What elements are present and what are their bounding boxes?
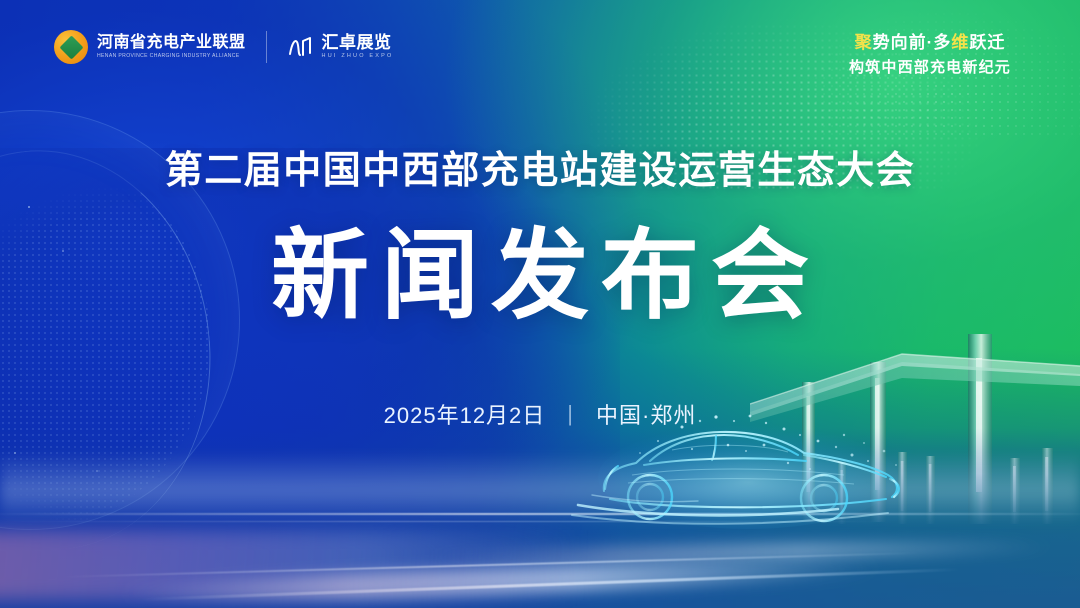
spark-dot <box>28 206 30 208</box>
event-dateline: 2025年12月2日 | 中国·郑州 <box>0 398 1080 430</box>
alliance-name-en: HENAN PROVINCE CHARGING INDUSTRY ALLIANC… <box>97 54 248 59</box>
alliance-text-block: 河南省充电产业联盟 HENAN PROVINCE CHARGING INDUST… <box>97 35 246 59</box>
event-date: 2025年12月2日 <box>384 398 546 430</box>
expo-name-cn: 汇卓展览 <box>322 34 394 51</box>
slogan-highlight-ju: 聚 <box>855 33 873 52</box>
logo-divider <box>266 31 267 63</box>
alliance-diamond-icon <box>54 30 88 64</box>
alliance-name-cn: 河南省充电产业联盟 <box>97 35 246 51</box>
event-location: 中国·郑州 <box>596 398 696 430</box>
expo-name-en: HUI ZHUO EXPO <box>322 54 394 60</box>
page-title: 新闻发布会 <box>0 218 1080 334</box>
alliance-logo[interactable]: 河南省充电产业联盟 HENAN PROVINCE CHARGING INDUST… <box>54 30 246 64</box>
alliance-diamond-inner-icon <box>59 35 83 59</box>
slogan-mid-1: 势向前·多 <box>873 33 952 52</box>
horizon-haze <box>0 452 1080 522</box>
poster-header: 河南省充电产业联盟 HENAN PROVINCE CHARGING INDUST… <box>0 0 1080 96</box>
hui-zhuo-monogram-icon <box>287 34 315 60</box>
slogan-mid-2: 跃迁 <box>969 33 1005 52</box>
logo-group: 河南省充电产业联盟 HENAN PROVINCE CHARGING INDUST… <box>54 30 394 64</box>
header-slogan: 聚势向前·多维跃迁 构筑中西部充电新纪元 <box>830 32 1030 80</box>
light-streak <box>0 513 1080 515</box>
slogan-line-2: 构筑中西部充电新纪元 <box>830 57 1030 80</box>
poster-canvas: 河南省充电产业联盟 HENAN PROVINCE CHARGING INDUST… <box>0 0 1080 608</box>
slogan-highlight-wei: 维 <box>951 33 969 52</box>
expo-text-block: 汇卓展览 HUI ZHUO EXPO <box>322 34 394 60</box>
dateline-separator: | <box>567 401 574 427</box>
slogan-line-1: 聚势向前·多维跃迁 <box>830 32 1030 53</box>
expo-logo[interactable]: 汇卓展览 HUI ZHUO EXPO <box>287 34 394 60</box>
event-subtitle: 第二届中国中西部充电站建设运营生态大会 <box>0 150 1080 194</box>
